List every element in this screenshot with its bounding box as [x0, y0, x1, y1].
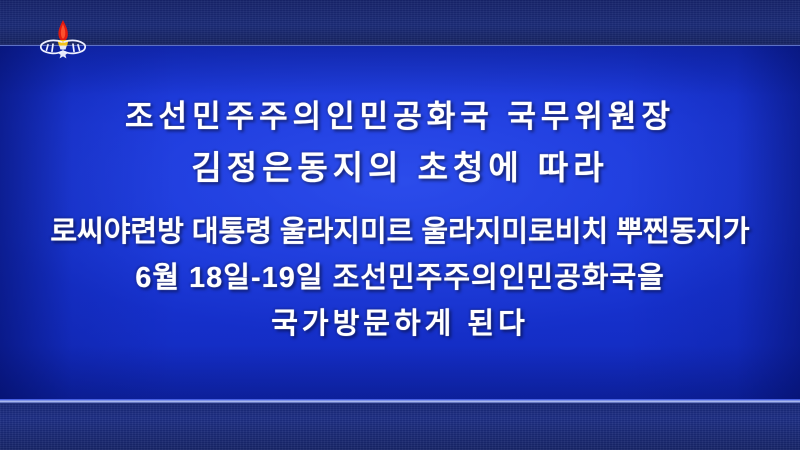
bottom-letterbox-band — [0, 404, 800, 450]
kctv-torch-emblem-icon — [34, 18, 92, 62]
top-letterbox-band — [0, 0, 800, 46]
caption-line-3: 로씨야련방 대통령 울라지미르 울라지미로비치 뿌찐동지가 — [0, 214, 800, 250]
caption-line-2: 김정은동지의 초청에 따라 — [0, 148, 800, 188]
caption-line-4: 6월 18일-19일 조선민주주의인민공화국을 — [0, 260, 800, 296]
caption-line-1: 조선민주주의인민공화국 국무위원장 — [0, 98, 800, 136]
broadcast-screen: 조선민주주의인민공화국 국무위원장 김정은동지의 초청에 따라 로씨야련방 대통… — [0, 0, 800, 450]
caption-line-5: 국가방문하게 된다 — [0, 306, 800, 342]
